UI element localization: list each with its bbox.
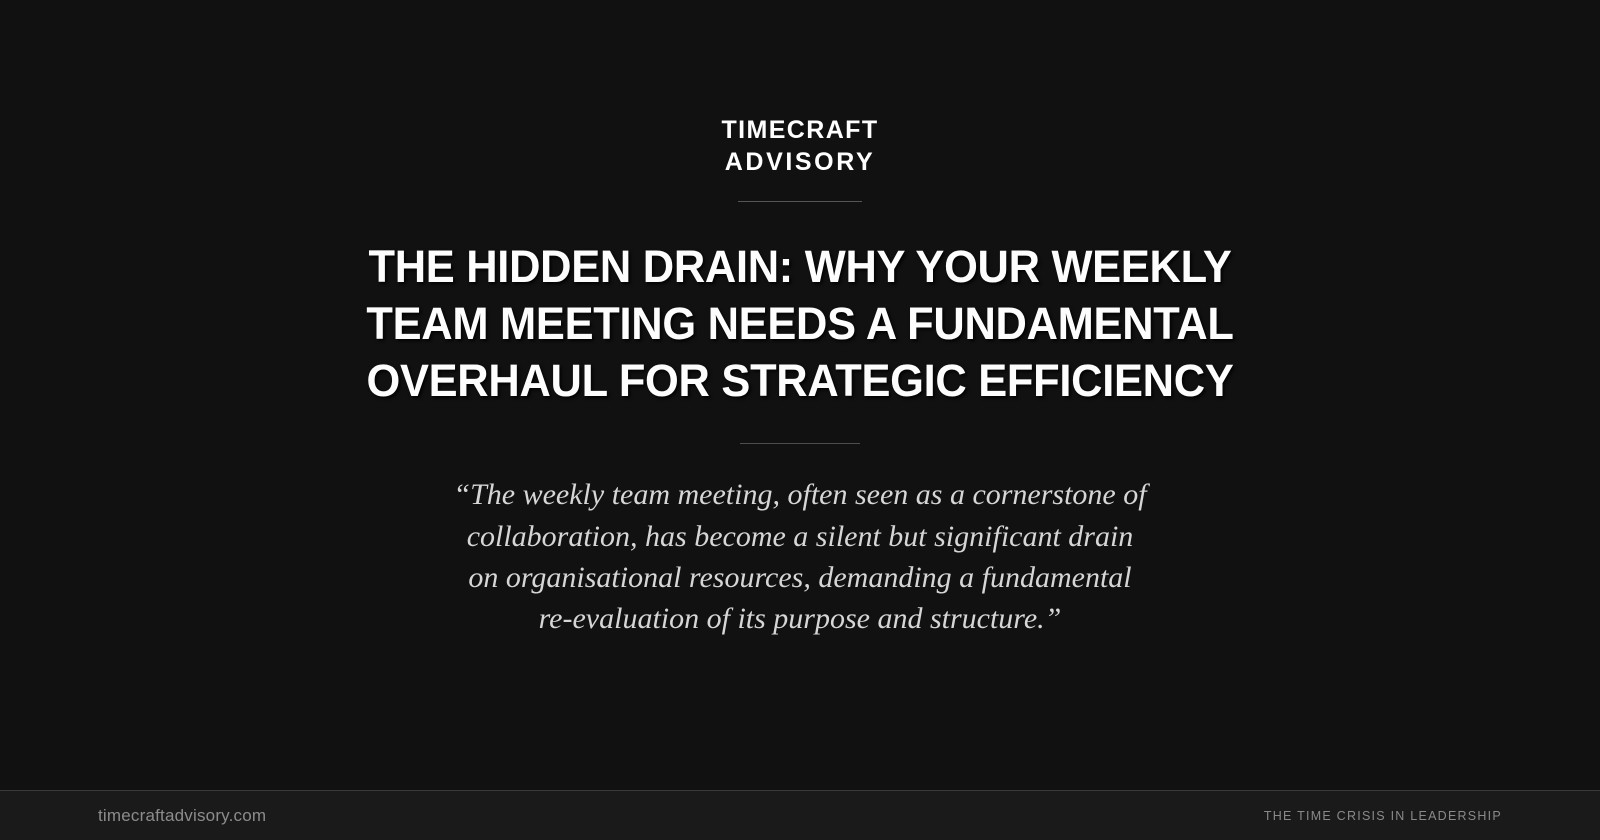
- brand-wordmark-primary: TIMECRAFT: [721, 118, 878, 143]
- quote-divider: [740, 443, 860, 444]
- pull-quote: “The weekly team meeting, often seen as …: [450, 474, 1150, 638]
- footer-section-label: The Time Crisis in Leadership: [1264, 809, 1502, 823]
- footer-website[interactable]: timecraftadvisory.com: [98, 806, 266, 826]
- slide-stage: TIMECRAFT ADVISORY The Hidden Drain: Why…: [0, 0, 1600, 790]
- title-slide: TIMECRAFT ADVISORY The Hidden Drain: Why…: [0, 0, 1600, 840]
- page-title: The Hidden Drain: Why Your Weekly Team M…: [318, 238, 1283, 409]
- brand-lockup: TIMECRAFT ADVISORY: [721, 118, 878, 175]
- slide-footer: timecraftadvisory.com The Time Crisis in…: [0, 790, 1600, 840]
- brand-wordmark-secondary: ADVISORY: [725, 150, 875, 175]
- brand-divider: [738, 201, 862, 202]
